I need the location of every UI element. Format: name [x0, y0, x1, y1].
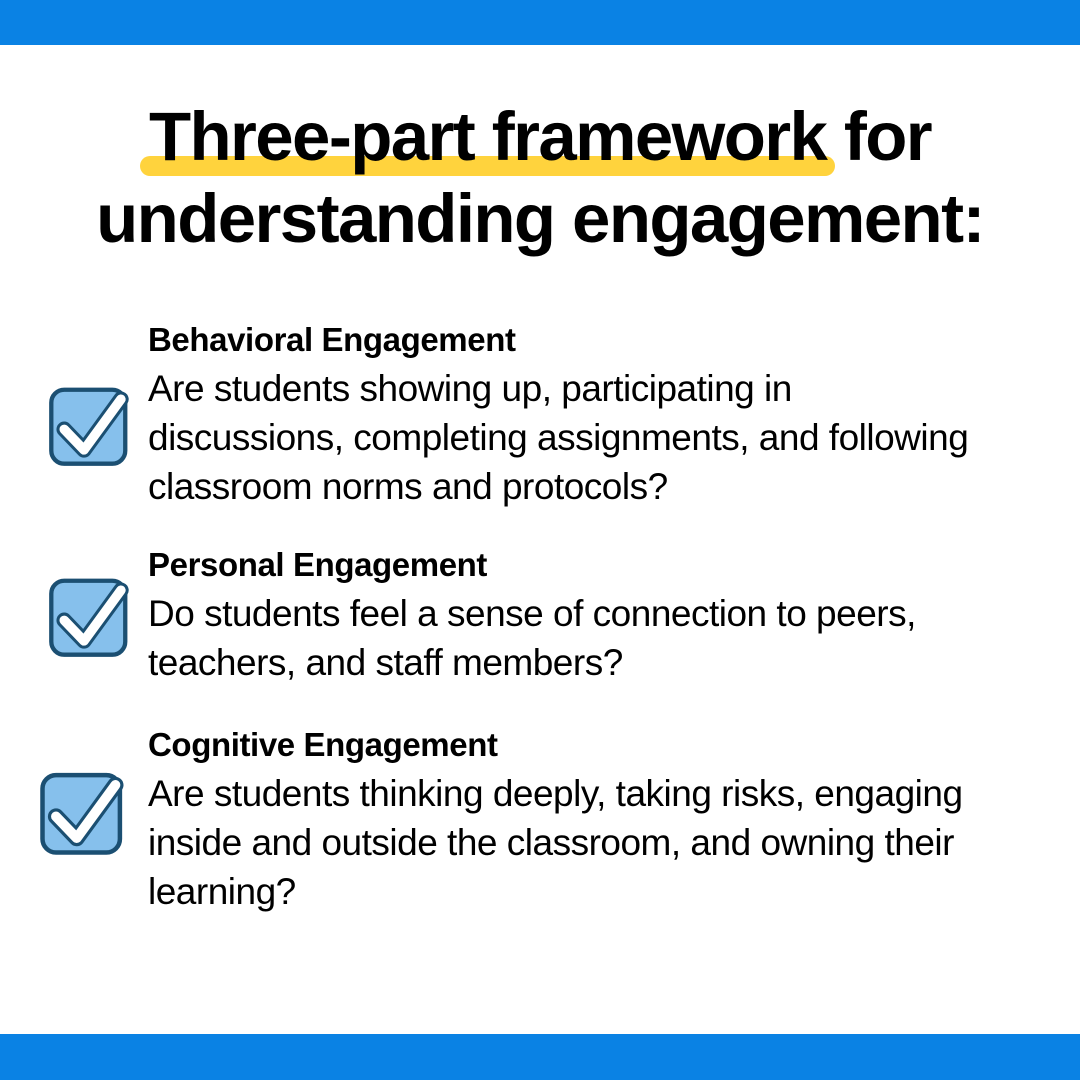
bottom-accent-bar [0, 1034, 1080, 1080]
framework-item-cognitive: Cognitive Engagement Are students thinki… [0, 725, 1080, 916]
item-body: Are students showing up, participating i… [148, 364, 978, 511]
page-title: Three-part framework for understanding e… [0, 96, 1080, 260]
framework-item-list: Behavioral Engagement Are students showi… [0, 320, 1080, 916]
checkbox-checked-icon [38, 767, 128, 857]
title-line-1-rest: for [826, 98, 931, 175]
framework-item-personal: Personal Engagement Do students feel a s… [0, 545, 1080, 687]
item-heading: Behavioral Engagement [148, 320, 1080, 360]
checkbox-checked-icon [47, 573, 133, 659]
top-accent-bar [0, 0, 1080, 45]
title-line-2: understanding engagement: [0, 178, 1080, 260]
item-body: Do students feel a sense of connection t… [148, 589, 978, 687]
item-heading: Personal Engagement [148, 545, 1080, 585]
item-body: Are students thinking deeply, taking ris… [148, 769, 978, 916]
title-line-1: Three-part framework for [0, 96, 1080, 178]
framework-item-behavioral: Behavioral Engagement Are students showi… [0, 320, 1080, 511]
item-heading: Cognitive Engagement [148, 725, 1080, 765]
title-highlighted-phrase: Three-part framework [149, 96, 826, 178]
slide-canvas: Three-part framework for understanding e… [0, 0, 1080, 1080]
checkbox-checked-icon [47, 382, 133, 468]
